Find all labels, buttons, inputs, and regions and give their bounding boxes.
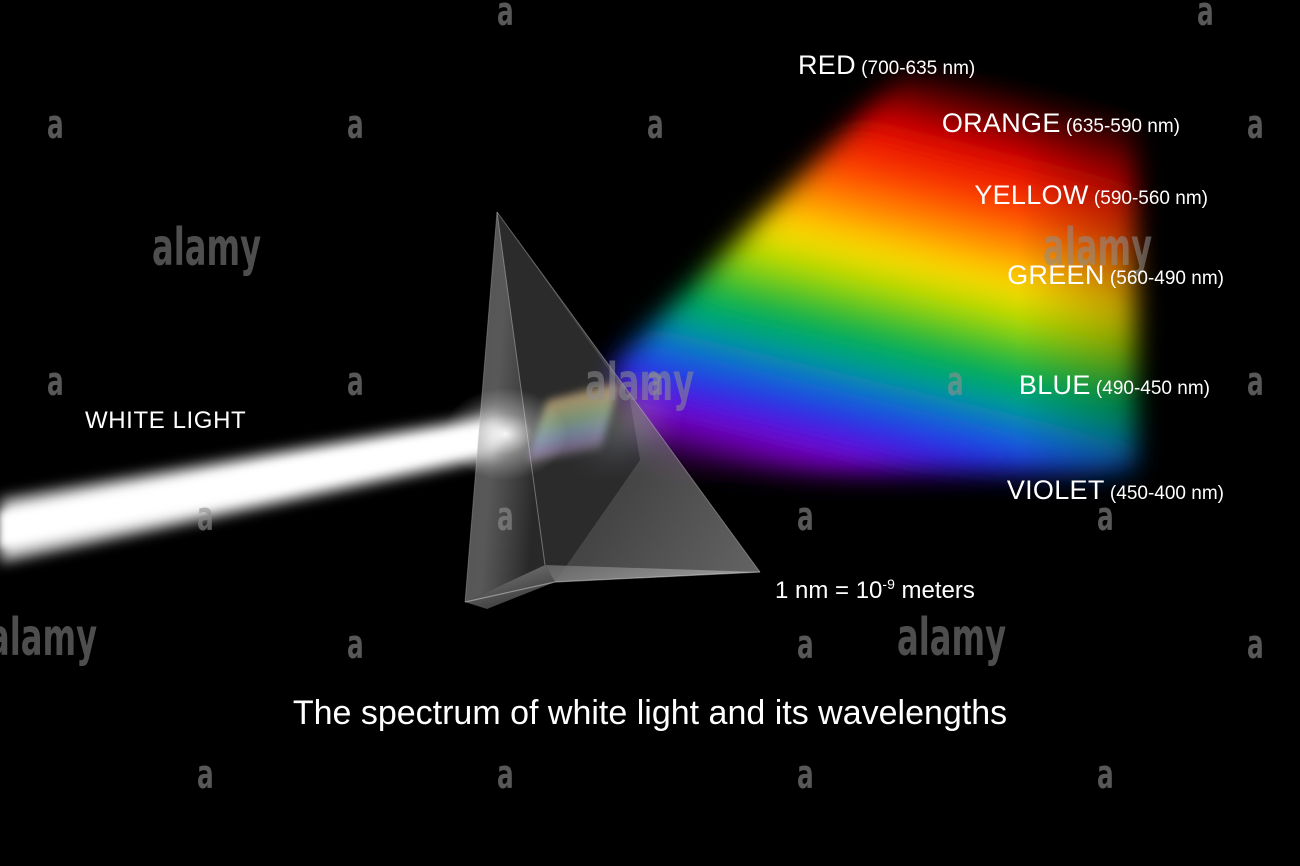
nm-note-exponent: -9 [882,576,894,592]
nanometer-note: 1 nm = 10-9 meters [775,576,975,605]
spectrum-wavelength-range: (560-490 nm) [1105,268,1224,289]
spectrum-label-green: GREEN (560-490 nm) [1007,262,1224,289]
spectrum-color-name: YELLOW [974,180,1088,210]
white-light-label: WHITE LIGHT [85,407,246,435]
artwork-canvas: aaaaaaaaaaaaaaaaaaaaaaalamyalamyalamyala… [0,0,1300,790]
spectrum-color-name: VIOLET [1007,475,1105,505]
footer-bar: alamy Image ID: HG91E3 www.alamy.com [0,790,1300,866]
spectrum-color-name: RED [798,50,856,80]
exit-rainbow-smear [592,392,660,458]
spectrum-label-red: RED (700-635 nm) [798,52,975,79]
prism-spectrum-illustration: aaaaaaaaaaaaaaaaaaaaaaalamyalamyalamyala… [0,0,1300,866]
spectrum-wavelength-range: (490-450 nm) [1091,378,1210,399]
spectrum-color-name: ORANGE [942,108,1061,138]
nm-note-suffix: meters [895,577,975,604]
spectrum-label-orange: ORANGE (635-590 nm) [942,110,1180,137]
spectrum-label-blue: BLUE (490-450 nm) [1019,372,1210,399]
nm-note-prefix: 1 nm = 10 [775,577,882,604]
spectrum-wavelength-range: (635-590 nm) [1061,116,1180,137]
spectrum-wavelength-range: (450-400 nm) [1105,483,1224,504]
spectrum-color-name: GREEN [1007,260,1105,290]
spectrum-label-violet: VIOLET (450-400 nm) [1007,477,1224,504]
spectrum-color-name: BLUE [1019,370,1091,400]
spectrum-label-yellow: YELLOW (590-560 nm) [974,182,1208,209]
spectrum-wavelength-range: (590-560 nm) [1089,188,1208,209]
spectrum-wavelength-range: (700-635 nm) [856,58,975,79]
page-caption: The spectrum of white light and its wave… [0,694,1300,733]
